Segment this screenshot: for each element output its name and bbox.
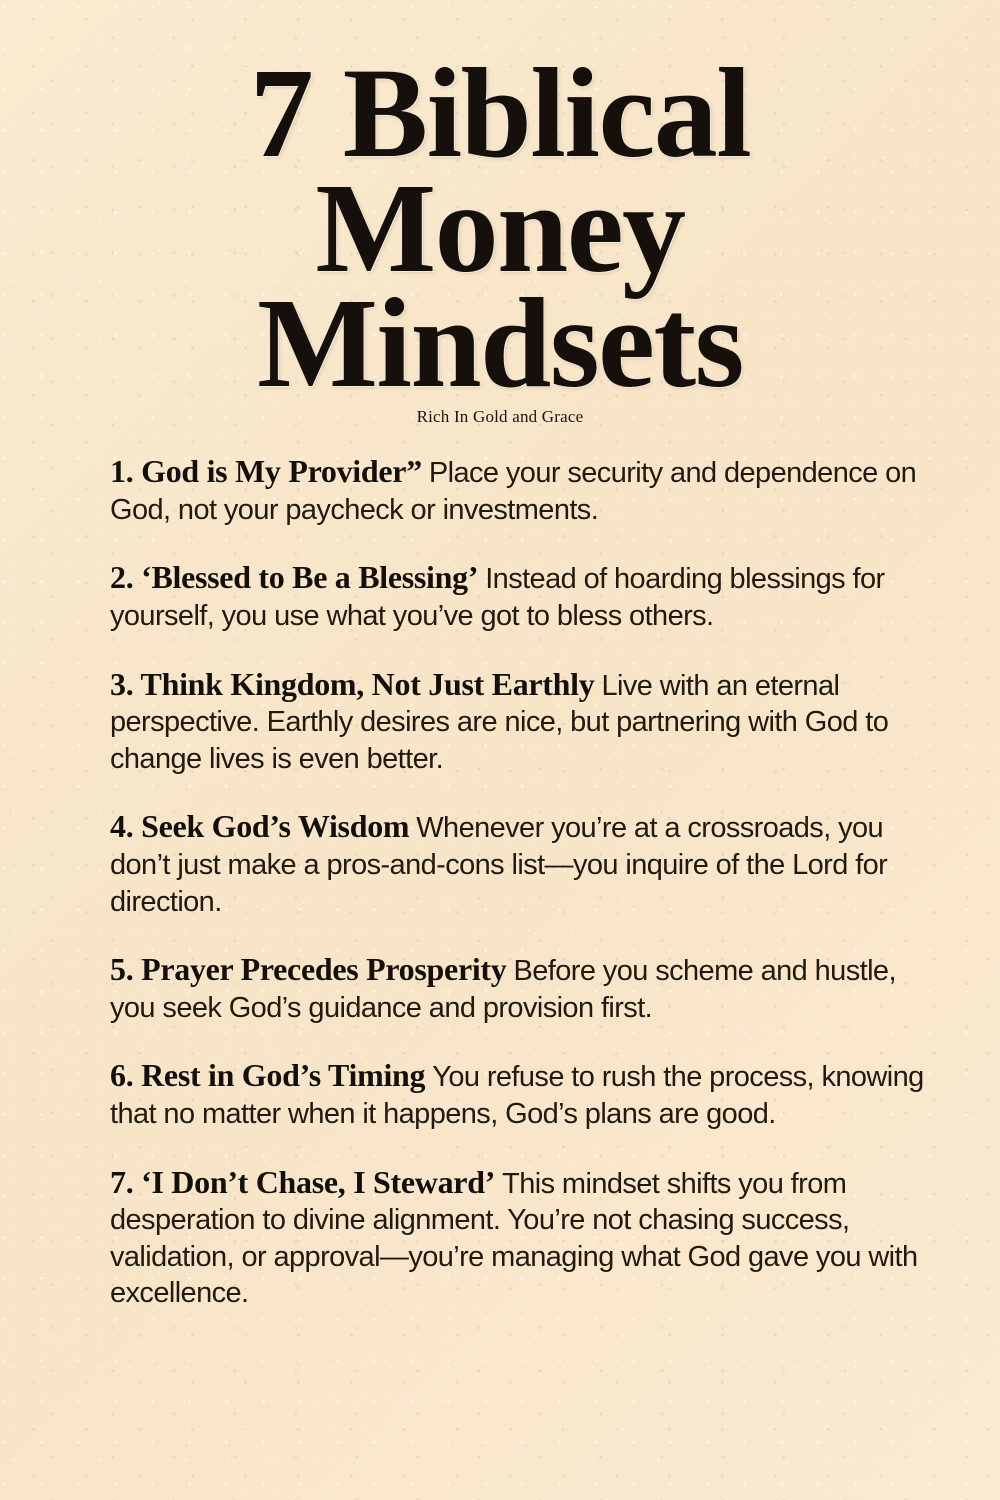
title-block: 7 Biblical Money Mindsets Rich In Gold a… <box>0 0 1000 426</box>
mindset-list: 1. God is My Provider”Place your securit… <box>0 452 1000 1312</box>
mindset-heading: 7. ‘I Don’t Chase, I Steward’ <box>110 1164 495 1200</box>
list-item: 7. ‘I Don’t Chase, I Steward’This mindse… <box>110 1163 934 1312</box>
mindset-heading: 2. ‘Blessed to Be a Blessing’ <box>110 559 478 595</box>
mindset-heading: 3. Think Kingdom, Not Just Earthly <box>110 666 594 702</box>
mindset-heading: 4. Seek God’s Wisdom <box>110 808 409 844</box>
mindset-heading: 1. God is My Provider” <box>110 453 422 489</box>
list-item: 4. Seek God’s WisdomWhenever you’re at a… <box>110 807 934 920</box>
title-line-1: 7 Biblical <box>0 56 1000 171</box>
list-item: 6. Rest in God’s TimingYou refuse to rus… <box>110 1056 934 1132</box>
list-item: 1. God is My Provider”Place your securit… <box>110 452 934 528</box>
page-subtitle: Rich In Gold and Grace <box>0 408 1000 427</box>
mindset-heading: 6. Rest in God’s Timing <box>110 1057 425 1093</box>
title-line-2: Money <box>0 171 1000 286</box>
list-item: 2. ‘Blessed to Be a Blessing’Instead of … <box>110 558 934 634</box>
list-item: 5. Prayer Precedes ProsperityBefore you … <box>110 950 934 1026</box>
poster-canvas: 7 Biblical Money Mindsets Rich In Gold a… <box>0 0 1000 1500</box>
mindset-heading: 5. Prayer Precedes Prosperity <box>110 951 507 987</box>
list-item: 3. Think Kingdom, Not Just EarthlyLive w… <box>110 665 934 778</box>
page-title: 7 Biblical Money Mindsets <box>0 56 1000 402</box>
title-line-3: Mindsets <box>0 286 1000 401</box>
